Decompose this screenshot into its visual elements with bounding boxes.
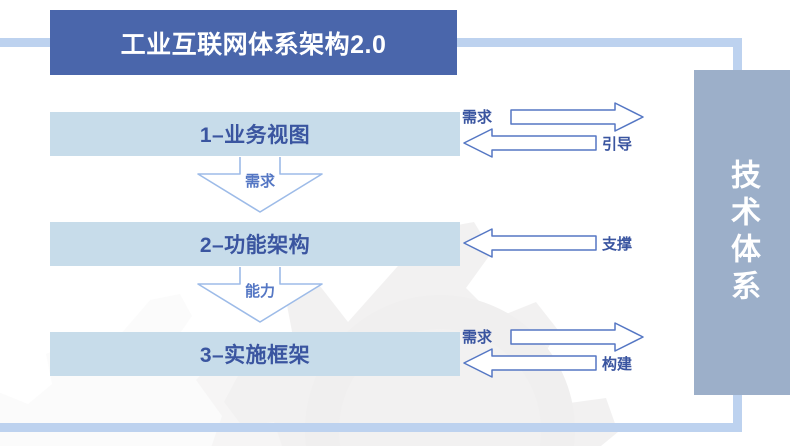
tech-system-label: 技术体系 <box>727 159 757 307</box>
relation-group-1: 需求 引导 <box>462 98 647 160</box>
page-title: 工业互联网体系架构2.0 <box>121 25 387 61</box>
top-accent-line-right <box>453 38 742 47</box>
relation-label-back-1: 引导 <box>602 133 632 154</box>
relation-label-forward-1: 需求 <box>462 106 492 127</box>
arrow-left-icon <box>462 228 597 258</box>
slide-canvas: 工业互联网体系架构2.0 1–业务视图 需求 2–功能架构 能力 3–实施框架 … <box>0 0 793 446</box>
relation-group-3: 需求 构建 <box>462 318 647 380</box>
relation-label-back-3: 构建 <box>602 353 632 374</box>
relation-group-2: 支撑 <box>462 226 647 260</box>
stage-box-functional-architecture[interactable]: 2–功能架构 <box>50 222 460 266</box>
arrow-left-icon <box>462 128 597 158</box>
down-arrow-requirement: 需求 <box>196 156 324 214</box>
tech-system-column[interactable]: 技术体系 <box>694 70 790 395</box>
slide-title-box: 工业互联网体系架构2.0 <box>50 10 457 75</box>
relation-label-back-2: 支撑 <box>602 233 632 254</box>
stage-box-implementation-framework[interactable]: 3–实施框架 <box>50 332 460 376</box>
bottom-accent-line <box>0 423 742 432</box>
stage-label-1: 1–业务视图 <box>200 119 310 149</box>
down-arrow-label-2: 能力 <box>196 280 324 301</box>
down-arrow-label-1: 需求 <box>196 170 324 191</box>
relation-label-forward-3: 需求 <box>462 326 492 347</box>
stage-box-business-view[interactable]: 1–业务视图 <box>50 112 460 156</box>
down-arrow-capability: 能力 <box>196 266 324 324</box>
stage-label-3: 3–实施框架 <box>200 339 310 369</box>
stage-label-2: 2–功能架构 <box>200 229 310 259</box>
top-accent-line-left <box>0 38 54 47</box>
arrow-left-icon <box>462 348 597 378</box>
